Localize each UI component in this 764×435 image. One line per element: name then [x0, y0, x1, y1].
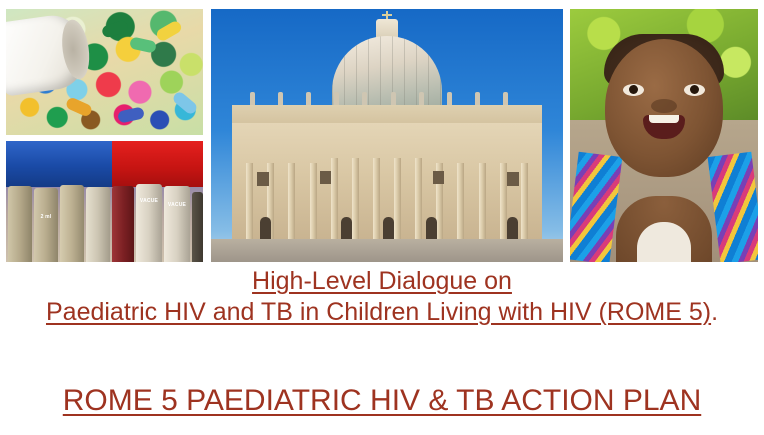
- facade-column: [500, 163, 507, 239]
- facade-window: [257, 172, 269, 186]
- facade-column: [288, 163, 295, 239]
- facade-column: [479, 163, 486, 239]
- facade-portal: [341, 217, 352, 239]
- roof-statue: [391, 92, 396, 105]
- st-peters-square: [211, 239, 563, 262]
- tube-brand-label: VACUE: [168, 202, 186, 208]
- roof-statue: [362, 92, 367, 105]
- specimen-tube: [192, 192, 203, 262]
- subtitle-line-2: Paediatric HIV and TB in Children Living…: [0, 297, 764, 328]
- roof-statue: [419, 92, 424, 105]
- child-smile: [643, 115, 685, 139]
- facade-column: [457, 163, 464, 239]
- roof-statue: [447, 92, 452, 105]
- facade-column: [415, 158, 422, 239]
- blue-cap-row: [6, 141, 112, 187]
- roof-statue: [475, 92, 480, 105]
- child-teeth: [649, 115, 679, 123]
- subtitle-block: High-Level Dialogue on Paediatric HIV an…: [0, 266, 764, 328]
- presentation-slide: 2 ml VACUE VACUE: [0, 0, 764, 435]
- tube-brand-label: VACUE: [140, 198, 158, 204]
- photo-band: 2 ml VACUE VACUE: [0, 0, 764, 265]
- specimen-tube: 2 ml: [34, 188, 58, 262]
- subtitle-line-2-period: .: [711, 298, 718, 326]
- facade-column: [373, 158, 380, 239]
- pills-photo: [6, 9, 203, 135]
- subtitle-line-1: High-Level Dialogue on: [0, 266, 764, 297]
- page-title: ROME 5 PAEDIATRIC HIV & TB ACTION PLAN: [63, 382, 701, 420]
- roof-statue: [503, 92, 508, 105]
- facade-window: [433, 171, 444, 184]
- facade-portal: [507, 217, 518, 239]
- red-cap-row: [112, 141, 203, 187]
- subtitle-line-1-text: High-Level Dialogue on: [252, 267, 512, 295]
- facade-column: [394, 158, 401, 239]
- facade-column: [310, 163, 317, 239]
- child-face: [605, 39, 723, 177]
- specimen-tube: VACUE: [136, 184, 162, 262]
- facade-column: [352, 158, 359, 239]
- facade-portal: [383, 217, 394, 239]
- roof-statue: [334, 92, 339, 105]
- facade-window: [320, 171, 331, 184]
- child-portrait-photo: [570, 9, 758, 262]
- specimen-tube: [112, 186, 134, 262]
- child-eye: [623, 84, 644, 96]
- tube-volume-label: 2 ml: [41, 214, 52, 220]
- roof-statue: [306, 92, 311, 105]
- roof-statue: [278, 92, 283, 105]
- facade-portal: [260, 217, 271, 239]
- subtitle-line-2-text: Paediatric HIV and TB in Children Living…: [46, 298, 711, 326]
- blood-tubes-photo: 2 ml VACUE VACUE: [6, 141, 203, 262]
- roof-statue: [250, 92, 255, 105]
- specimen-tube: [60, 185, 84, 262]
- facade-column: [246, 163, 253, 239]
- facade-portal: [426, 217, 437, 239]
- specimen-tube: [8, 186, 32, 262]
- child-eye: [684, 84, 705, 96]
- child-nose: [651, 99, 677, 113]
- specimen-tube: [86, 187, 110, 262]
- st-peters-basilica-photo: [211, 9, 563, 262]
- facade-column: [331, 158, 338, 239]
- facade-window: [507, 172, 519, 186]
- main-title-block: ROME 5 PAEDIATRIC HIV & TB ACTION PLAN: [0, 382, 764, 420]
- specimen-tube: VACUE: [164, 186, 190, 262]
- facade-column: [521, 163, 528, 239]
